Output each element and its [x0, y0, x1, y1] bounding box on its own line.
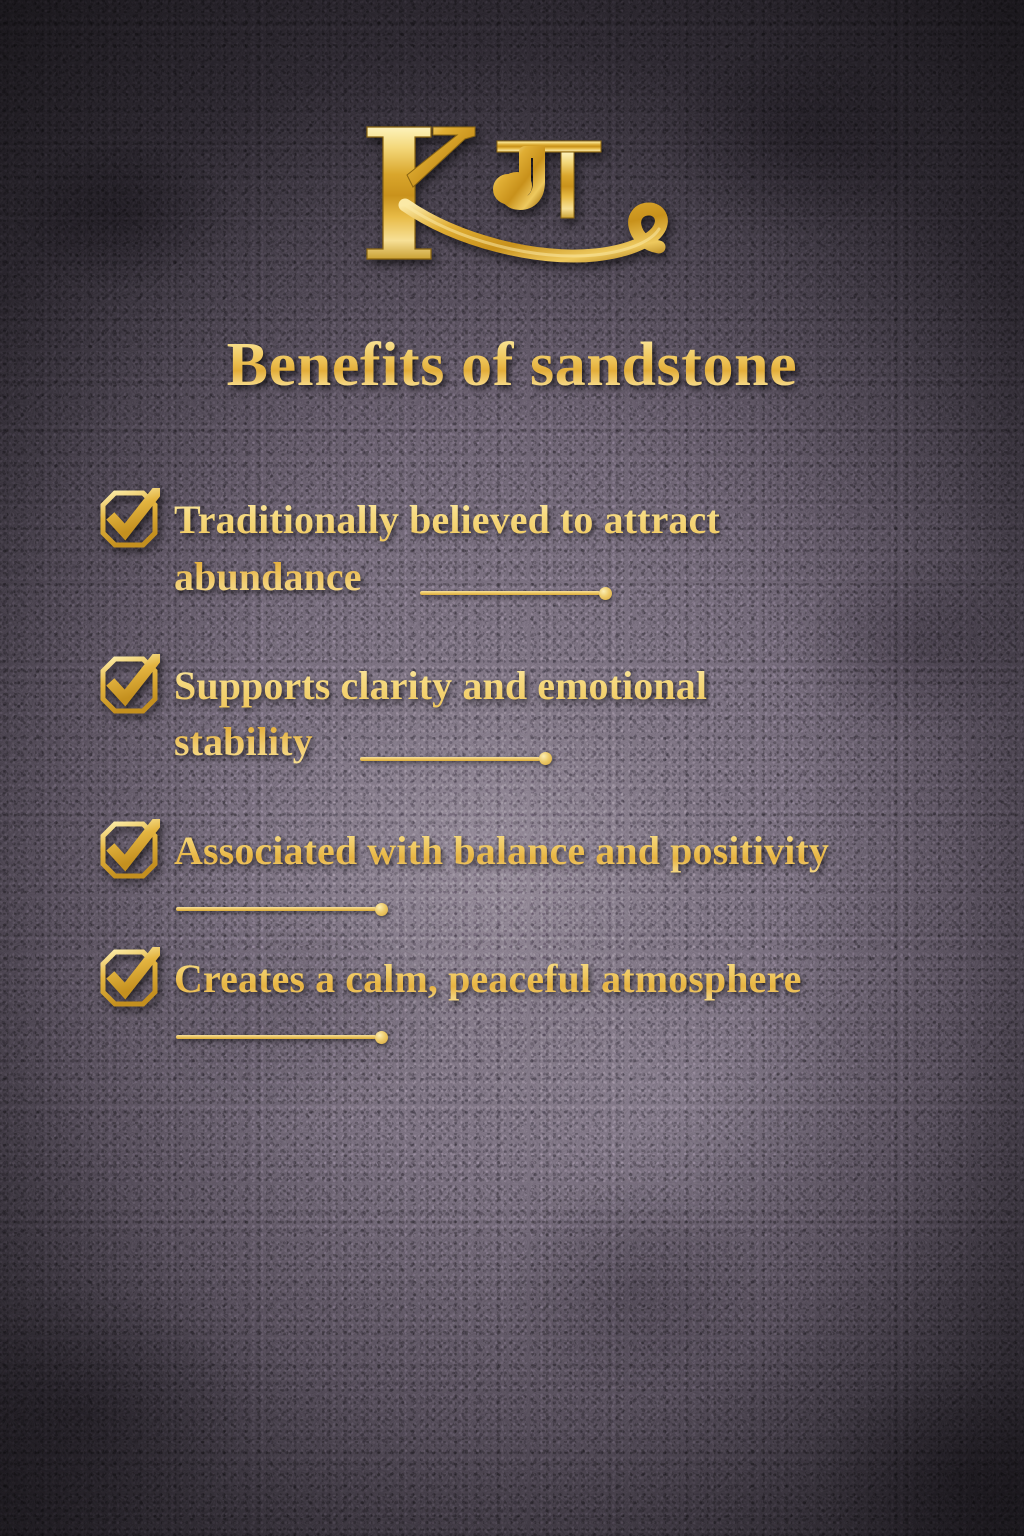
kpi-monogram-icon: [347, 113, 677, 283]
item-rule-decoration: [360, 751, 552, 767]
list-item-label: Associated with balance and positivity: [174, 823, 829, 880]
brand-logo: [0, 108, 1024, 288]
item-rule-decoration: [176, 901, 388, 917]
page-title: Benefits of sandstone: [0, 333, 1024, 398]
checkbox-checked-icon: [98, 654, 160, 716]
poster-canvas: Benefits of sandstone: [0, 0, 1024, 1536]
item-rule-decoration: [420, 585, 612, 601]
benefits-list: Traditionally believed to attract abunda…: [98, 492, 978, 1031]
checkbox-checked-icon: [98, 488, 160, 550]
list-item-label: Creates a calm, peaceful atmosphere: [174, 951, 801, 1008]
list-item[interactable]: Traditionally believed to attract abunda…: [98, 492, 978, 606]
checkbox-checked-icon: [98, 819, 160, 881]
checkbox-checked-icon: [98, 947, 160, 1009]
item-rule-decoration: [176, 1029, 388, 1045]
list-item[interactable]: Creates a calm, peaceful atmosphere: [98, 951, 978, 1009]
list-item[interactable]: Associated with balance and positivity: [98, 823, 978, 881]
list-item[interactable]: Supports clarity and emotional stability: [98, 658, 978, 772]
